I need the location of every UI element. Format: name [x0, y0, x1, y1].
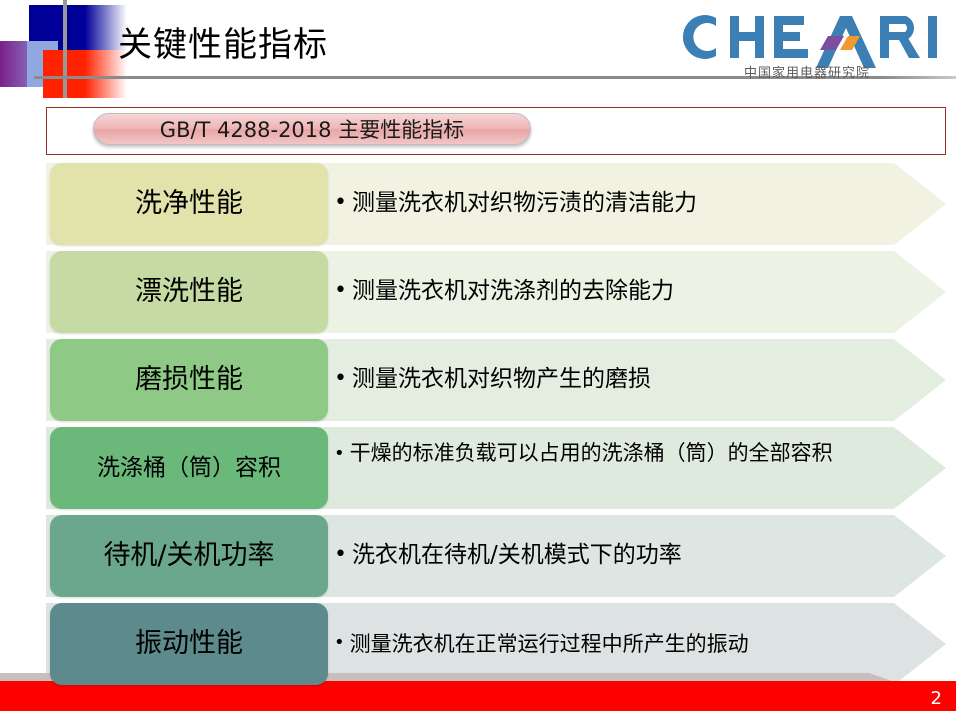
metric-description: 干燥的标准负载可以占用的洗涤桶（筒）的全部容积 [350, 439, 833, 467]
decor-vertical-rule [63, 0, 67, 98]
metric-description: 洗衣机在待机/关机模式下的功率 [352, 540, 682, 571]
metric-label-box[interactable]: 漂洗性能 [50, 251, 328, 333]
metric-row: 待机/关机功率 • 洗衣机在待机/关机模式下的功率 [0, 515, 956, 597]
metric-description-area: • 测量洗衣机在正常运行过程中所产生的振动 [328, 603, 956, 685]
metric-label-box[interactable]: 洗净性能 [50, 163, 328, 245]
metric-label: 磨损性能 [129, 364, 249, 395]
metric-description-area: • 洗衣机在待机/关机模式下的功率 [328, 515, 956, 597]
bullet-icon: • [334, 544, 347, 566]
metric-description: 测量洗衣机对织物产生的磨损 [352, 364, 651, 395]
metric-description: 测量洗衣机对织物污渍的清洁能力 [352, 188, 697, 219]
standard-badge: GB/T 4288-2018 主要性能指标 [93, 113, 531, 145]
metric-row: 磨损性能 • 测量洗衣机对织物产生的磨损 [0, 339, 956, 421]
bullet-icon: • [334, 192, 347, 214]
metric-row: 漂洗性能 • 测量洗衣机对洗涤剂的去除能力 [0, 251, 956, 333]
standard-badge-label: GB/T 4288-2018 主要性能指标 [160, 114, 464, 144]
metric-description-area: • 测量洗衣机对洗涤剂的去除能力 [328, 251, 956, 333]
metric-description-area: • 干燥的标准负载可以占用的洗涤桶（筒）的全部容积 [328, 427, 956, 509]
logo-subtitle: 中国家用电器研究院 [744, 62, 870, 81]
metric-description-area: • 测量洗衣机对织物产生的磨损 [328, 339, 956, 421]
metric-label: 振动性能 [129, 628, 249, 659]
cheari-logo: 中国家用电器研究院 [672, 6, 942, 84]
metric-row: 振动性能 • 测量洗衣机在正常运行过程中所产生的振动 [0, 603, 956, 685]
bullet-icon: • [334, 280, 347, 302]
metric-label-box[interactable]: 待机/关机功率 [50, 515, 328, 597]
standard-frame: GB/T 4288-2018 主要性能指标 [46, 107, 946, 155]
footer-bar [0, 681, 956, 711]
page-number: 2 [931, 688, 942, 709]
metric-description-area: • 测量洗衣机对织物污渍的清洁能力 [328, 163, 956, 245]
metric-description: 测量洗衣机对洗涤剂的去除能力 [352, 276, 674, 307]
metrics-list: 洗净性能 • 测量洗衣机对织物污渍的清洁能力 漂洗性能 • 测量洗衣机对洗涤剂的… [0, 163, 956, 691]
metric-label-box[interactable]: 洗涤桶（筒）容积 [50, 427, 328, 509]
metric-label: 洗涤桶（筒）容积 [91, 455, 287, 481]
metric-description: 测量洗衣机在正常运行过程中所产生的振动 [350, 630, 749, 658]
metric-label: 漂洗性能 [129, 276, 249, 307]
bullet-icon: • [334, 634, 345, 652]
metric-row: 洗涤桶（筒）容积 • 干燥的标准负载可以占用的洗涤桶（筒）的全部容积 [0, 427, 956, 509]
metric-label-box[interactable]: 磨损性能 [50, 339, 328, 421]
page-title: 关键性能指标 [118, 17, 328, 66]
metric-label: 洗净性能 [129, 188, 249, 219]
bullet-icon: • [334, 445, 345, 463]
cheari-logo-mark [672, 6, 942, 68]
metric-row: 洗净性能 • 测量洗衣机对织物污渍的清洁能力 [0, 163, 956, 245]
bullet-icon: • [334, 368, 347, 390]
metric-label-box[interactable]: 振动性能 [50, 603, 328, 685]
metric-label: 待机/关机功率 [97, 540, 280, 571]
